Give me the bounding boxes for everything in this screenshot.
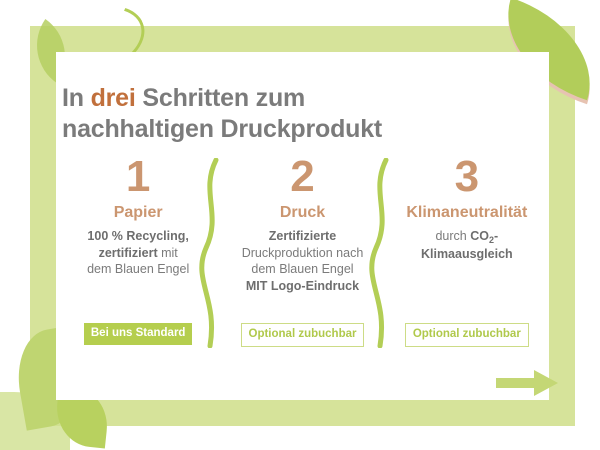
badge-wrap-3: Optional zubuchbar <box>385 323 549 347</box>
step-body-1-bold-2: zertifiziert <box>99 246 158 260</box>
title-line-2: nachhaltigen Druckprodukt <box>62 115 382 143</box>
step-heading-2: Druck <box>280 203 325 222</box>
title-line-1: In drei Schritten zum <box>62 84 305 112</box>
step-body-1-reg-1: mit <box>158 246 178 260</box>
wavy-divider-1 <box>196 158 224 353</box>
page-title: In drei Schritten zum nachhaltigen Druck… <box>62 83 382 145</box>
step-heading-1: Papier <box>114 203 163 222</box>
step-body-3-subscript: 2 <box>489 235 494 245</box>
badge-wrap-2: Optional zubuchbar <box>220 323 384 347</box>
step-column-3: 3 Klimaneutralität durch CO2- Klimaausgl… <box>385 155 549 355</box>
step-number-3: 3 <box>455 155 479 199</box>
frame-band-bottom <box>30 400 575 426</box>
status-badge-3[interactable]: Optional zubuchbar <box>405 323 529 347</box>
step-body-1: 100 % Recycling, zertifiziert mit dem Bl… <box>87 228 189 278</box>
step-body-1-bold-1: 100 % Recycling, <box>87 229 188 243</box>
title-text-before: In <box>62 84 91 112</box>
right-arrow-icon <box>496 370 558 401</box>
step-body-3: durch CO2- Klimaausgleich <box>421 228 513 262</box>
step-body-3-bold-2: - <box>494 229 498 243</box>
wavy-divider-2 <box>366 158 394 353</box>
status-badge-1[interactable]: Bei uns Standard <box>84 323 193 345</box>
step-heading-3: Klimaneutralität <box>406 203 527 222</box>
step-body-2-bold-1: Zertifizierte <box>269 229 336 243</box>
step-number-1: 1 <box>126 155 150 199</box>
title-text-after: Schritten zum <box>136 84 305 112</box>
step-body-3-reg-1: durch <box>435 229 470 243</box>
step-body-2-reg-1: Druckproduktion nach <box>242 246 364 260</box>
step-body-2-reg-2: dem Blauen Engel <box>251 262 353 276</box>
step-body-3-bold-3: Klimaausgleich <box>421 247 513 261</box>
step-body-3-bold-1: CO <box>470 229 489 243</box>
step-body-1-reg-2: dem Blauen Engel <box>87 262 189 276</box>
title-highlight-word: drei <box>91 84 136 112</box>
step-column-2: 2 Druck Zertifizierte Druckproduktion na… <box>220 155 384 355</box>
steps-row: 1 Papier 100 % Recycling, zertifiziert m… <box>56 155 549 355</box>
status-badge-2[interactable]: Optional zubuchbar <box>241 323 365 347</box>
step-body-2-bold-2: MIT Logo-Eindruck <box>246 279 359 293</box>
step-body-2: Zertifizierte Druckproduktion nach dem B… <box>242 228 364 294</box>
step-number-2: 2 <box>290 155 314 199</box>
infographic-canvas: In drei Schritten zum nachhaltigen Druck… <box>0 0 600 450</box>
